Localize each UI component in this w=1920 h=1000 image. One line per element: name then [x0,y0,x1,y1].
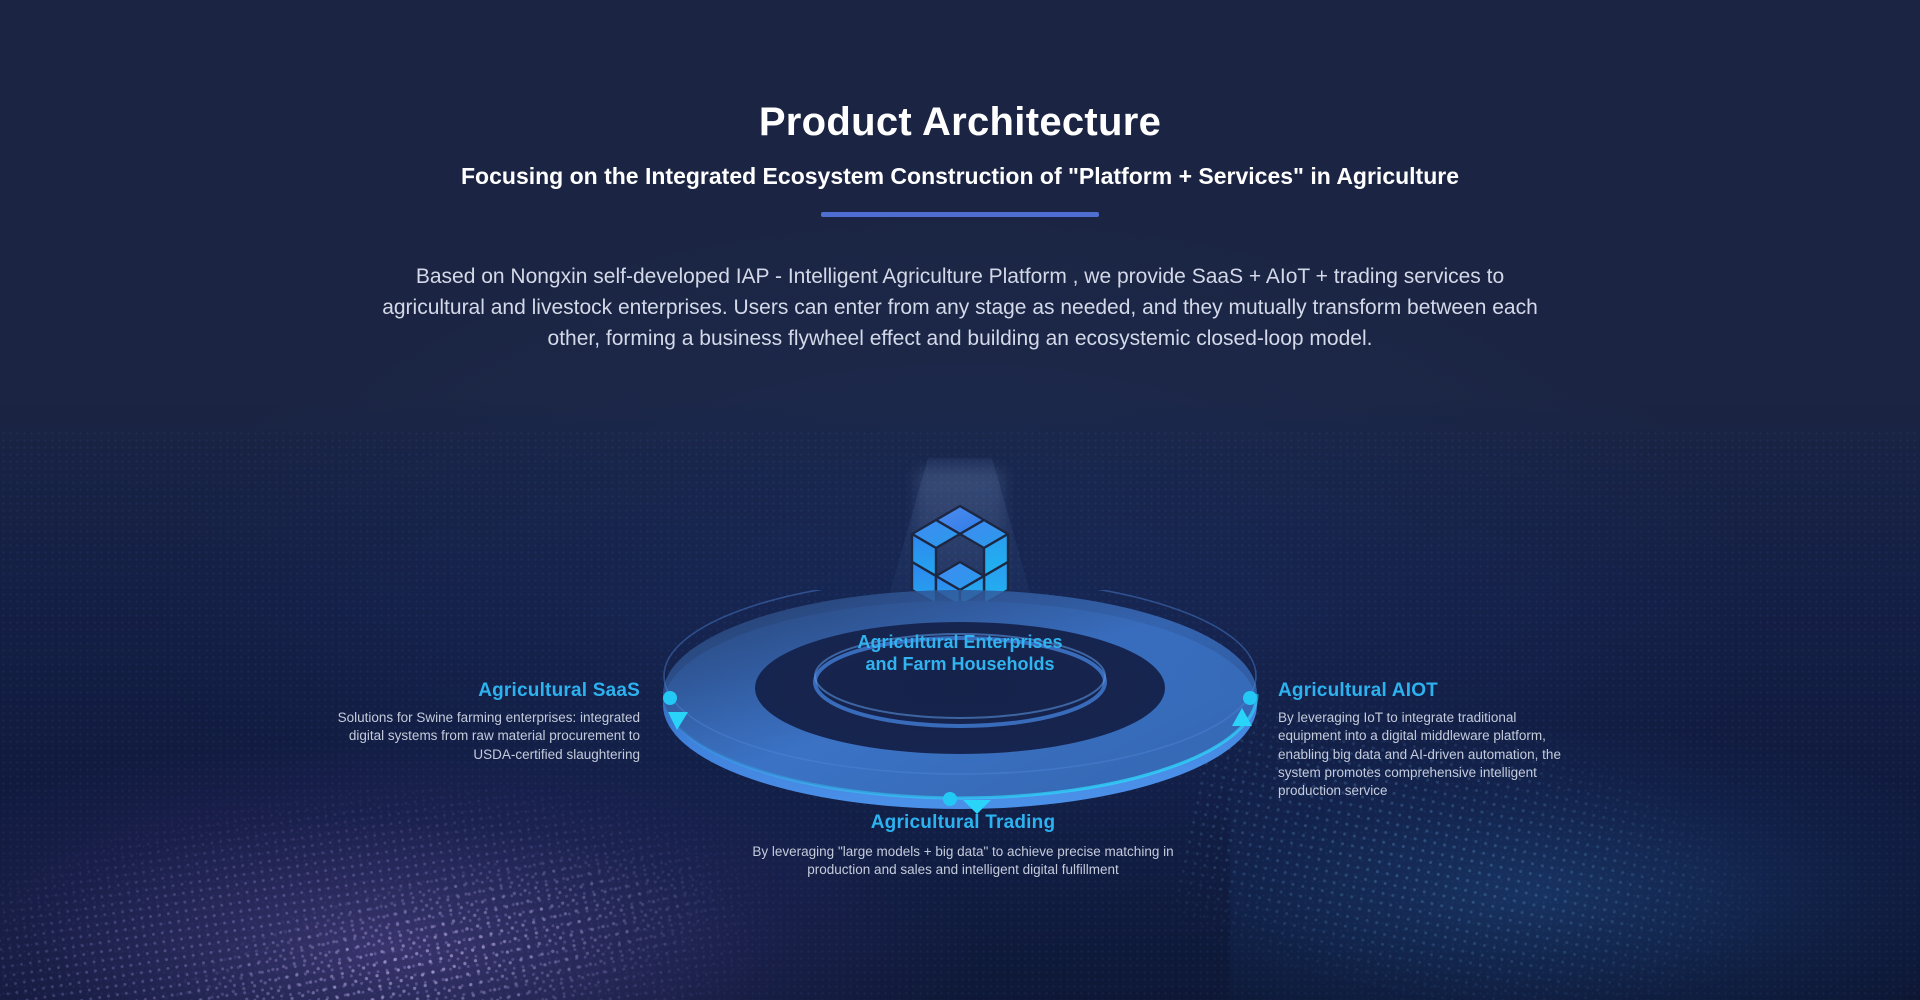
flywheel-ring [660,590,1260,820]
node-aiot-description: By leveraging IoT to integrate tradition… [1278,709,1578,801]
node-saas-title: Agricultural SaaS [330,680,640,702]
center-label: Agricultural Enterprises and Farm Househ… [760,632,1160,676]
node-trading-description: By leveraging "large models + big data" … [738,843,1188,880]
node-saas[interactable]: Agricultural SaaS Solutions for Swine fa… [330,680,640,764]
center-label-line1: Agricultural Enterprises [857,632,1062,652]
architecture-diagram: Agricultural Enterprises and Farm Househ… [0,0,1920,1000]
node-trading[interactable]: Agricultural Trading By leveraging "larg… [738,812,1188,880]
node-trading-title: Agricultural Trading [738,812,1188,834]
node-aiot[interactable]: Agricultural AIOT By leveraging IoT to i… [1278,680,1578,801]
center-label-line2: and Farm Households [760,654,1160,676]
node-saas-description: Solutions for Swine farming enterprises:… [330,709,640,764]
product-architecture-slide: Product Architecture Focusing on the Int… [0,0,1920,1000]
node-aiot-title: Agricultural AIOT [1278,680,1578,702]
